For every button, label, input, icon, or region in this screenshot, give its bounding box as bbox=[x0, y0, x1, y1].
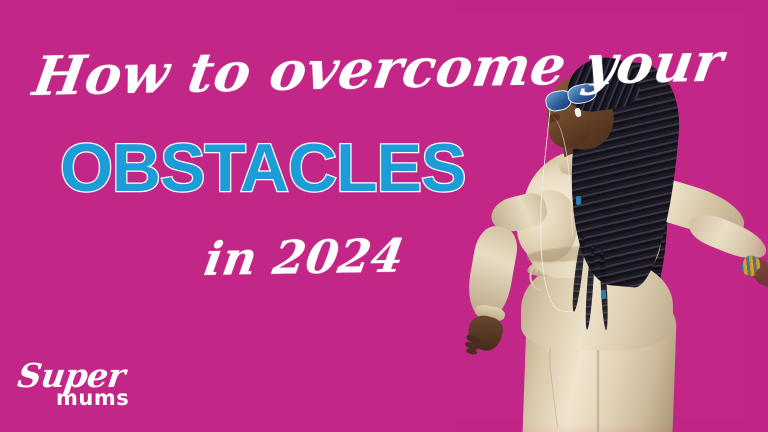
supermums-logo[interactable]: Super mums bbox=[18, 356, 138, 414]
hair-bead bbox=[576, 196, 581, 205]
hair-bead bbox=[601, 290, 606, 299]
headline-obstacles: OBSTACLES bbox=[60, 134, 465, 202]
headline-line-3: in 2024 bbox=[201, 229, 409, 286]
banner-canvas: How to overcome your OBSTACLES in 2024 S… bbox=[0, 0, 768, 432]
logo-word-mums: mums bbox=[56, 386, 129, 410]
